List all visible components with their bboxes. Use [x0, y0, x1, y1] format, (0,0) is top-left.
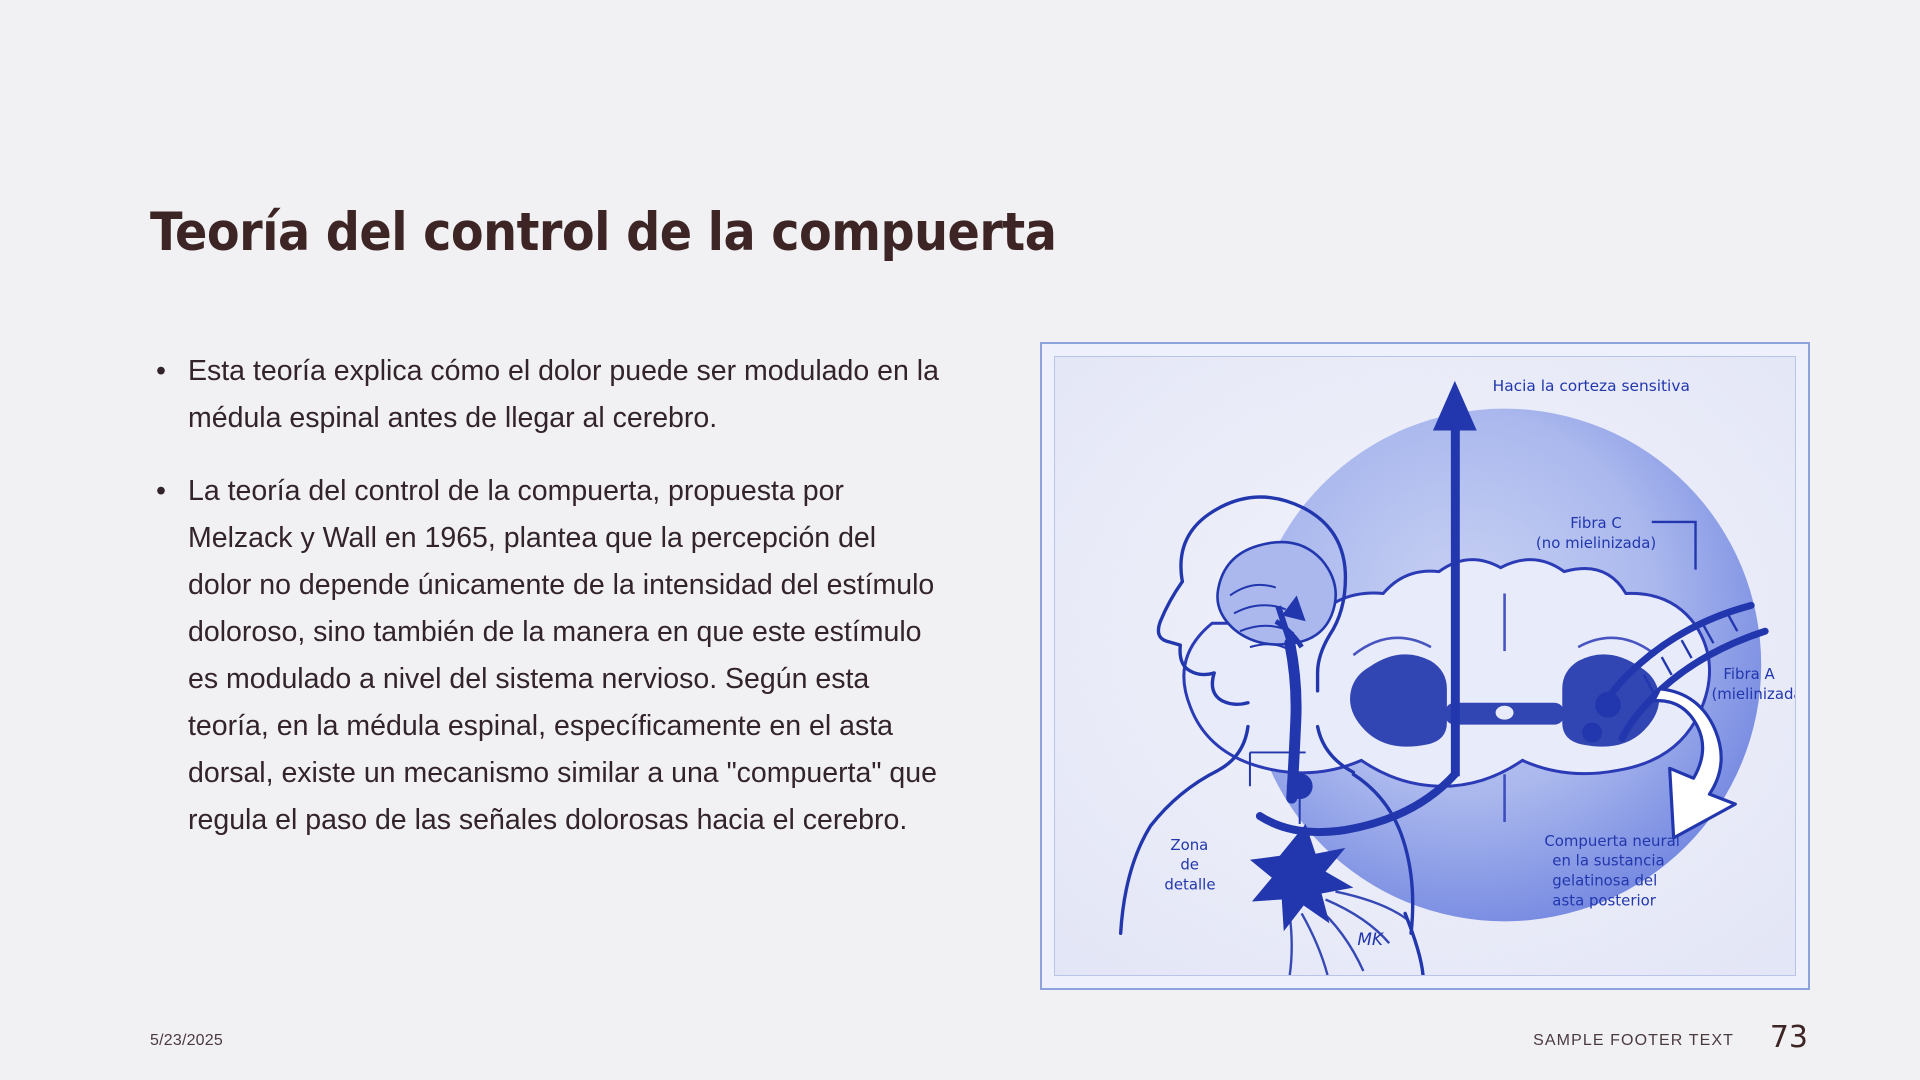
page-number: 73: [1770, 1020, 1808, 1055]
label-gate-line3: gelatinosa del: [1552, 872, 1657, 890]
label-fiber-c-line1: Fibra C: [1570, 514, 1622, 532]
footer-text: SAMPLE FOOTER TEXT: [1533, 1032, 1734, 1050]
label-detail-zone-line2: de: [1180, 856, 1199, 874]
slide: Teoría del control de la compuerta • Est…: [0, 0, 1920, 1080]
label-signature: MK: [1357, 929, 1385, 949]
label-detail-zone-line1: Zona: [1170, 836, 1208, 854]
bullet-list: • Esta teoría explica cómo el dolor pued…: [150, 348, 940, 844]
label-detail-zone-line3: detalle: [1164, 876, 1215, 894]
page-title: Teoría del control de la compuerta: [150, 204, 1056, 262]
list-item: • La teoría del control de la compuerta,…: [150, 468, 940, 844]
label-gate-line2: en la sustancia: [1552, 852, 1664, 870]
body-text-column: • Esta teoría explica cómo el dolor pued…: [150, 348, 940, 844]
diagram-svg: Hacia la corteza sensitiva Fibra C (no m…: [1055, 357, 1795, 975]
gate-control-theory-image: Hacia la corteza sensitiva Fibra C (no m…: [1054, 356, 1796, 976]
label-gate-line4: asta posterior: [1552, 891, 1656, 909]
label-fiber-a-line1: Fibra A: [1723, 665, 1775, 683]
label-top-arrow: Hacia la corteza sensitiva: [1493, 377, 1690, 395]
label-fiber-c-line2: (no mielinizada): [1536, 534, 1656, 552]
bullet-marker-icon: •: [156, 468, 166, 515]
figure-frame: Hacia la corteza sensitiva Fibra C (no m…: [1040, 342, 1810, 990]
footer-date: 5/23/2025: [150, 1032, 223, 1050]
list-item-text: La teoría del control de la compuerta, p…: [188, 475, 937, 836]
label-fiber-a-line2: (mielinizada): [1711, 685, 1795, 703]
label-gate-line1: Compuerta neural: [1544, 832, 1680, 850]
list-item-text: Esta teoría explica cómo el dolor puede …: [188, 355, 939, 434]
list-item: • Esta teoría explica cómo el dolor pued…: [150, 348, 940, 442]
bullet-marker-icon: •: [156, 348, 166, 395]
